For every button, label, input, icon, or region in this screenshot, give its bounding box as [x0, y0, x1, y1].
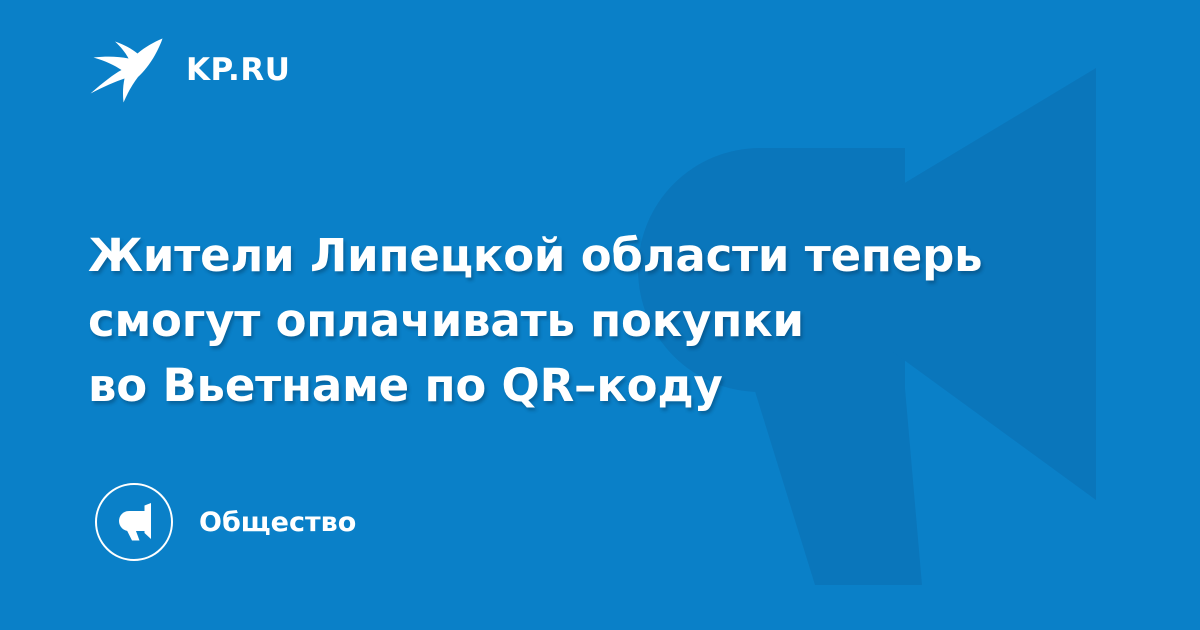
megaphone-icon: [113, 501, 155, 543]
swallow-bird-icon: [88, 36, 164, 104]
headline-line-2: смогут оплачивать покупки: [88, 288, 1118, 353]
rubric-icon-circle: [95, 483, 173, 561]
social-share-card: KP.RU Жители Липецкой области теперь смо…: [0, 0, 1200, 630]
rubric-label: Общество: [199, 509, 356, 536]
rubric-badge[interactable]: Общество: [95, 483, 356, 561]
headline-line-1: Жители Липецкой области теперь: [88, 223, 1118, 288]
headline: Жители Липецкой области теперь смогут оп…: [88, 223, 1118, 418]
brand-name: KP.RU: [186, 55, 290, 86]
headline-line-3: во Вьетнаме по QR–коду: [88, 353, 1118, 418]
brand-logo[interactable]: KP.RU: [88, 36, 290, 104]
